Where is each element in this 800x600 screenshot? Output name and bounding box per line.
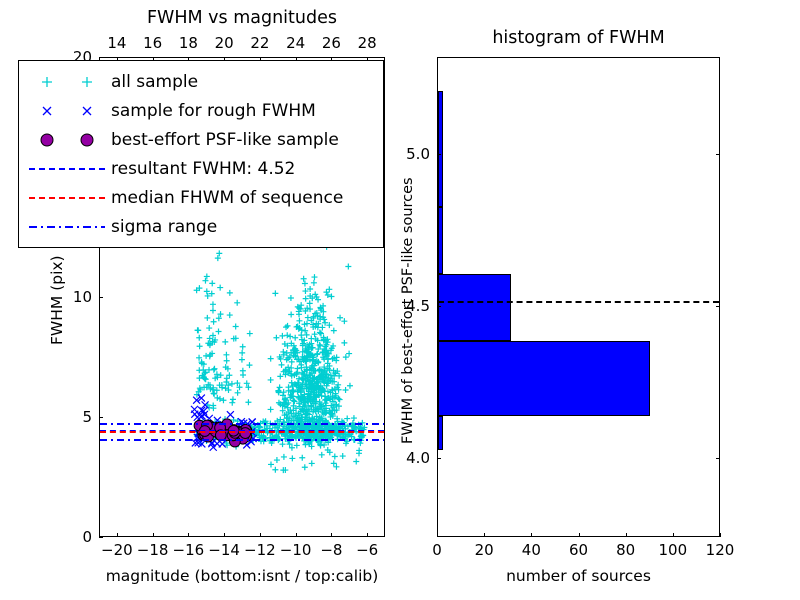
- y-axis-tick: [716, 154, 720, 155]
- x-axis-tick: [531, 533, 532, 537]
- histogram-bar: [438, 91, 443, 206]
- histogram-x-tick-label: 120: [706, 541, 735, 559]
- legend-item-label: median FHWM of sequence: [111, 188, 343, 208]
- legend-item[interactable]: sigma range: [25, 212, 375, 241]
- histogram-bars-layer: [438, 58, 719, 536]
- scatter-y-tick-label: 10: [73, 288, 92, 306]
- scatter-top-x-tick-label: 14: [107, 34, 126, 52]
- scatter-x-tick-label: −12: [244, 541, 276, 559]
- x-axis-tick: [117, 533, 118, 537]
- figure-canvas: FWHM vs magnitudes −20−18−16−14−12−10−8−…: [0, 0, 800, 600]
- scatter-top-x-tick-label: 22: [250, 34, 269, 52]
- histogram-y-axis-label: FWHM of best-effort PSF-like sources: [400, 177, 416, 444]
- histogram-axes: [437, 57, 720, 537]
- x-axis-tick: [437, 533, 438, 537]
- scatter-legend: all samplesample for rough FWHMbest-effo…: [18, 60, 384, 248]
- histogram-y-tick-label: 5.0: [406, 145, 430, 163]
- scatter-x-tick-label: −18: [137, 541, 169, 559]
- legend-item-label: all sample: [111, 72, 198, 92]
- histogram-x-tick-label: 0: [432, 541, 442, 559]
- scatter-reference-line: [100, 423, 384, 425]
- x-axis-tick: [260, 533, 261, 537]
- x-axis-tick: [296, 533, 297, 537]
- y-axis-tick: [437, 154, 441, 155]
- histogram-x-tick-label: 60: [569, 541, 588, 559]
- histogram-title: histogram of FWHM: [437, 28, 720, 48]
- x-axis-tick: [188, 533, 189, 537]
- scatter-y-tick-label: 0: [82, 528, 92, 546]
- histogram-y-tick-label: 4.0: [406, 449, 430, 467]
- y-axis-tick: [99, 297, 103, 298]
- scatter-y-axis-label: FWHM (pix): [48, 255, 66, 345]
- legend-marker-dashed-line-icon: [25, 187, 111, 209]
- scatter-x-tick-label: −6: [356, 541, 378, 559]
- scatter-top-x-tick-label: 18: [179, 34, 198, 52]
- histogram-x-tick-label: 100: [659, 541, 688, 559]
- y-axis-tick: [99, 417, 103, 418]
- scatter-top-x-tick-label: 16: [143, 34, 162, 52]
- x-axis-tick: [673, 533, 674, 537]
- scatter-x-tick-label: −20: [101, 541, 133, 559]
- x-axis-tick: [579, 533, 580, 537]
- y-axis-tick: [437, 306, 441, 307]
- histogram-x-axis-label: number of sources: [437, 567, 720, 585]
- y-axis-tick: [716, 458, 720, 459]
- legend-marker-circle-icon: [25, 129, 111, 151]
- scatter-reference-line: [100, 439, 384, 441]
- scatter-top-x-tick-label: 28: [358, 34, 377, 52]
- scatter-x-axis-label: magnitude (bottom:isnt / top:calib): [69, 567, 415, 585]
- legend-marker-dashdot-line-icon: [25, 216, 111, 238]
- legend-marker-dashed-line-icon: [25, 158, 111, 180]
- legend-item-label: resultant FWHM: 4.52: [111, 159, 295, 179]
- histogram-x-tick-label: 20: [475, 541, 494, 559]
- histogram-bar: [438, 416, 443, 449]
- legend-item-label: sigma range: [111, 217, 217, 237]
- y-axis-tick: [716, 306, 720, 307]
- histogram-bar: [438, 207, 443, 274]
- y-axis-tick: [99, 537, 103, 538]
- histogram-bar: [438, 274, 511, 341]
- y-axis-tick: [99, 57, 103, 58]
- legend-item[interactable]: resultant FWHM: 4.52: [25, 154, 375, 183]
- scatter-top-x-tick-label: 20: [215, 34, 234, 52]
- x-axis-tick: [626, 533, 627, 537]
- x-axis-tick: [331, 533, 332, 537]
- scatter-x-tick-label: −16: [173, 541, 205, 559]
- scatter-reference-line: [100, 431, 384, 433]
- histogram-bar: [438, 341, 650, 417]
- legend-item-label: best-effort PSF-like sample: [111, 130, 339, 150]
- legend-item[interactable]: sample for rough FWHM: [25, 96, 375, 125]
- scatter-top-x-tick-label: 26: [322, 34, 341, 52]
- histogram-x-tick-label: 80: [616, 541, 635, 559]
- histogram-x-tick-label: 40: [522, 541, 541, 559]
- legend-item[interactable]: median FHWM of sequence: [25, 183, 375, 212]
- x-axis-tick: [484, 533, 485, 537]
- legend-marker-cross-icon: [25, 100, 111, 122]
- x-axis-tick: [224, 533, 225, 537]
- scatter-top-x-tick-label: 24: [286, 34, 305, 52]
- scatter-x-tick-label: −14: [208, 541, 240, 559]
- x-axis-tick: [153, 533, 154, 537]
- histogram-median-line: [438, 301, 719, 303]
- x-axis-tick: [720, 533, 721, 537]
- legend-marker-plus-icon: [25, 71, 111, 93]
- scatter-x-tick-label: −10: [280, 541, 312, 559]
- legend-item[interactable]: all sample: [25, 67, 375, 96]
- scatter-plot-title: FWHM vs magnitudes: [99, 8, 385, 28]
- x-axis-tick: [367, 533, 368, 537]
- y-axis-tick: [437, 458, 441, 459]
- scatter-y-tick-label: 5: [82, 408, 92, 426]
- legend-item-label: sample for rough FWHM: [111, 101, 316, 121]
- scatter-x-tick-label: −8: [320, 541, 342, 559]
- legend-item[interactable]: best-effort PSF-like sample: [25, 125, 375, 154]
